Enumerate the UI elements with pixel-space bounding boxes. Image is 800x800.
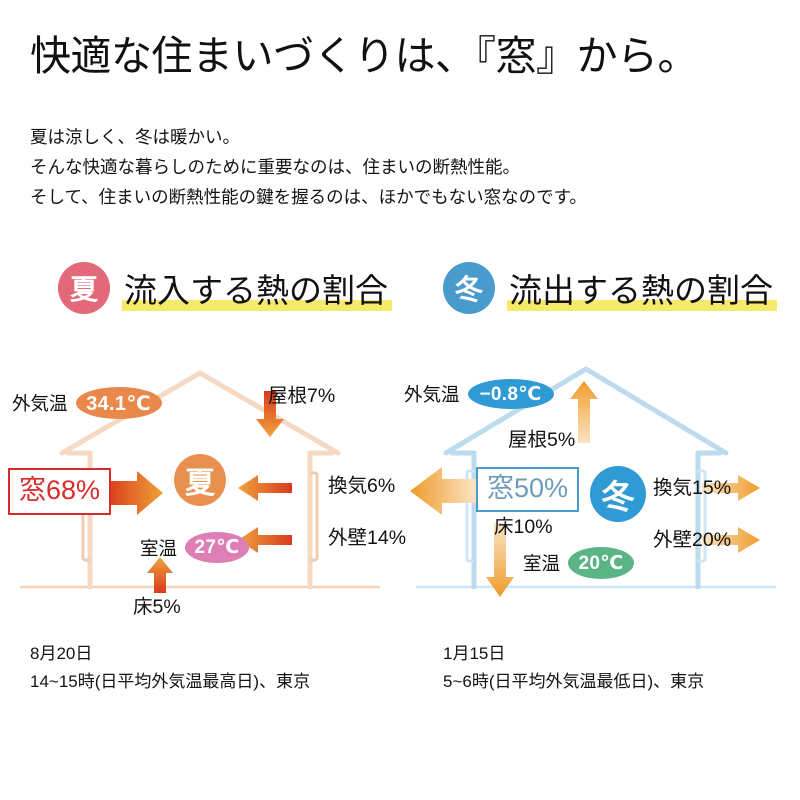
outdoor-temp-value-winter: −0.8℃ [468,379,554,409]
lede-line-3: そして、住まいの断熱性能の鍵を握るのは、ほかでもない窓なのです。 [30,182,587,212]
room-temp-label-winter: 室温 [523,550,560,576]
caption-summer: 8月20日 14~15時(日平均外気温最高日)、東京 [30,640,310,696]
section-title-summer: 流入する熱の割合 [124,264,388,312]
room-temp-label-summer: 室温 [140,535,177,561]
roof-label-winter: 屋根5% [508,431,575,451]
section-title-winter-text: 流出する熱の割合 [509,272,773,309]
caption-winter-detail: 5~6時(日平均外気温最低日)、東京 [443,668,704,696]
vent-label-summer: 換気6% [328,477,395,497]
vent-label-winter: 換気15% [653,479,731,499]
house-badge-winter: 冬 [590,466,646,522]
arrow-vent-summer [238,475,292,501]
room-temp-summer: 室温 27℃ [140,532,249,563]
lede-line-2: そんな快適な暮らしのために重要なのは、住まいの断熱性能。 [30,152,587,182]
window-callout-winter: 窓50% [476,467,579,512]
house-badge-summer: 夏 [174,454,226,506]
section-header-summer: 夏 流入する熱の割合 [58,258,388,318]
season-chip-winter: 冬 [443,262,495,314]
room-temp-value-winter: 20℃ [568,547,634,579]
floor-label-winter: 床10% [494,518,553,538]
section-header-winter: 冬 流出する熱の割合 [443,258,773,318]
diagram-winter: 外気温 −0.8℃ 屋根5% 窓50% 冬 換気15% 外壁20% 床10% 室… [398,355,798,620]
floor-label-summer: 床5% [133,598,181,618]
wall-label-summer: 外壁14% [328,529,406,549]
caption-summer-detail: 14~15時(日平均外気温最高日)、東京 [30,668,310,696]
window-callout-summer: 窓68% [8,468,111,515]
lede-line-1: 夏は涼しく、冬は暖かい。 [30,122,587,152]
outdoor-temp-label-summer: 外気温 [12,390,68,416]
page-title: 快適な住まいづくりは、『窓』から。 [30,22,698,82]
season-chip-summer: 夏 [58,262,110,314]
diagram-summer: 外気温 34.1℃ 屋根7% 換気6% 外壁14% 窓68% 夏 室温 27℃ … [0,355,400,620]
roof-label-summer: 屋根7% [268,387,335,407]
caption-winter: 1月15日 5~6時(日平均外気温最低日)、東京 [443,640,704,696]
caption-summer-date: 8月20日 [30,640,310,668]
outdoor-temp-label-winter: 外気温 [404,381,460,407]
wall-label-winter: 外壁20% [653,531,731,551]
section-title-summer-text: 流入する熱の割合 [124,272,388,309]
section-title-winter: 流出する熱の割合 [509,264,773,312]
lede-paragraph: 夏は涼しく、冬は暖かい。 そんな快適な暮らしのために重要なのは、住まいの断熱性能… [30,122,587,212]
caption-winter-date: 1月15日 [443,640,704,668]
outdoor-temp-winter: 外気温 −0.8℃ [404,379,554,409]
room-temp-value-summer: 27℃ [185,532,249,563]
outdoor-temp-value-summer: 34.1℃ [76,387,162,419]
room-temp-winter: 室温 20℃ [523,547,634,579]
outdoor-temp-summer: 外気温 34.1℃ [12,387,162,419]
